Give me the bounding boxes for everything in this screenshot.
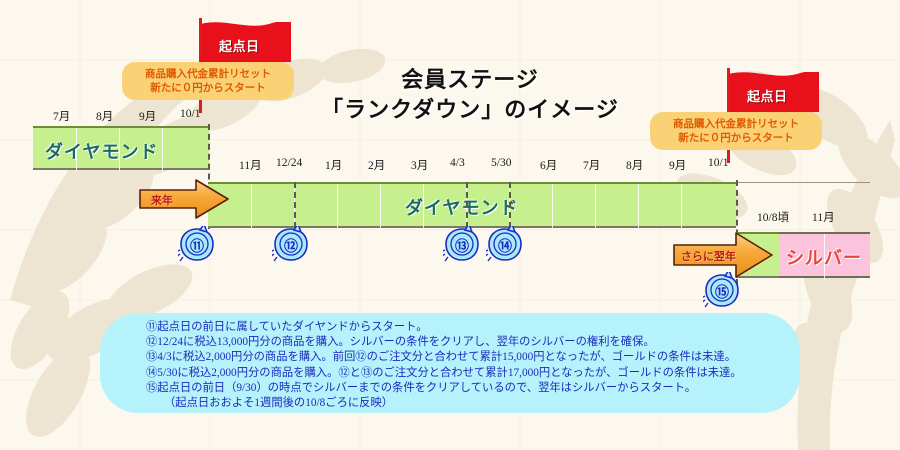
row2-tick-label: 7月 [583, 157, 600, 173]
footnote-line: （起点日おおよそ1週間後の10/8ごろに反映） [146, 396, 742, 411]
footnote-text: ⑪起点日の前日に属していたダイヤンドからスタート。 ⑫12/24に税込13,00… [146, 320, 742, 411]
bubble-number: ⑬ [443, 236, 481, 256]
page-title-line1: 会員ステージ [330, 62, 610, 94]
event-divider-43 [466, 182, 468, 228]
footnote-line: ⑭5/30に税込2,000円分の商品を購入。⑫と⑬のご注文分と合わせて累計17,… [146, 366, 742, 381]
footnote-line: ⑪起点日の前日に属していたダイヤンドからスタート。 [146, 320, 742, 335]
row2-tick-label: 3月 [411, 157, 428, 173]
flag-label: 起点日 [219, 36, 260, 55]
callout-line2: 新たに０円からスタート [131, 81, 285, 95]
event-divider-530 [509, 182, 511, 228]
row2-tick-label: 1月 [325, 157, 342, 173]
bubble-number: ⑭ [486, 236, 524, 256]
callout-bubble-11: ⑪ [178, 226, 218, 262]
row3-bar-label: シルバー [786, 244, 862, 270]
row1-bar-label: ダイヤモンド [45, 138, 158, 164]
callout-line1: 商品購入代金累計リセット [659, 117, 813, 131]
row2-tick-label: 5/30 [491, 157, 511, 169]
footnote-line: ⑬4/3に税込2,000円分の商品を購入。前回⑫のご注文分と合わせて累計15,0… [146, 350, 742, 365]
row1-tick-label: 8月 [96, 108, 113, 124]
page-title-line2: 「ランクダウン」のイメージ [310, 92, 630, 124]
row2-tick-label: 8月 [626, 157, 643, 173]
reset-callout-right: 商品購入代金累計リセット 新たに０円からスタート [650, 112, 822, 150]
callout-line2: 新たに０円からスタート [659, 131, 813, 145]
arrow-label: さらに翌年 [681, 248, 736, 264]
callout-bubble-12: ⑫ [272, 226, 312, 262]
bubble-number: ⑪ [178, 236, 216, 256]
arrow-label: 来年 [151, 192, 173, 208]
row2-tick-label: 9月 [669, 157, 686, 173]
row1-tick-label: 9月 [139, 108, 156, 124]
bubble-number: ⑫ [272, 236, 310, 256]
callout-bubble-14: ⑭ [486, 226, 526, 262]
row2-tick-label: 2月 [368, 157, 385, 173]
row2-tick-label: 11月 [239, 157, 262, 173]
callout-line1: 商品購入代金累計リセット [131, 67, 285, 81]
bubble-number: ⑮ [703, 282, 741, 302]
footnote-line: ⑫12/24に税込13,000円分の商品を購入。シルバーの条件をクリアし、翌年の… [146, 335, 742, 350]
row2-tick-label: 6月 [540, 157, 557, 173]
callout-bubble-13: ⑬ [443, 226, 483, 262]
row3-tick-label: 10/8頃 [757, 209, 789, 225]
flag-label: 起点日 [747, 86, 788, 105]
row2-tick-label: 12/24 [276, 157, 302, 169]
reset-callout-left: 商品購入代金累計リセット 新たに０円からスタート [122, 62, 294, 100]
row1-tick-label: 7月 [53, 108, 70, 124]
diagram-canvas: 会員ステージ 「ランクダウン」のイメージ ダイヤモンド 7月 8月 9月 10/… [0, 0, 900, 450]
row2-bar-label: ダイヤモンド [405, 194, 518, 220]
row2-tick-label: 4/3 [450, 157, 465, 169]
row3-tick-label: 11月 [812, 209, 835, 225]
arrow-next-year: 来年 [138, 178, 230, 220]
footnote-line: ⑮起点日の前日（9/30）の時点でシルバーまでの条件をクリアしているので、翌年は… [146, 381, 742, 396]
callout-bubble-15: ⑮ [703, 272, 743, 308]
event-divider-1224 [294, 182, 296, 228]
